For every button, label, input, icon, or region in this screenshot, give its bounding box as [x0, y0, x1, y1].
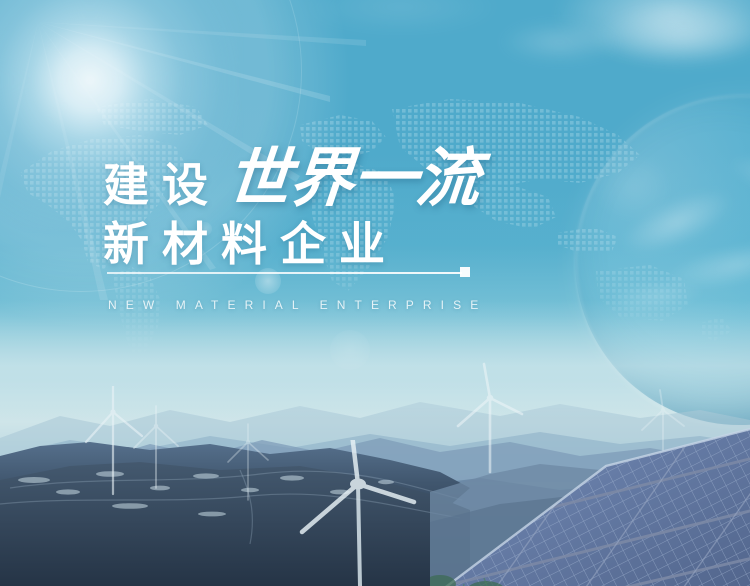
headline-prefix: 建设 [103, 159, 221, 211]
divider-line [107, 272, 462, 274]
divider-rule [107, 266, 470, 280]
promotional-banner: 建设 世界一流 新材料企业 NEW MATERIAL ENTERPRISE [0, 0, 750, 586]
headline-line-2: 新材料企业 [103, 217, 663, 271]
solar-panel-array [430, 414, 750, 586]
wind-turbine [222, 422, 274, 502]
headline-emphasis: 世界一流 [224, 147, 482, 211]
headline-block: 建设 世界一流 新材料企业 [103, 139, 663, 271]
wind-turbine [296, 440, 426, 586]
divider-end-square [460, 267, 470, 277]
headline-line-1: 建设 世界一流 [103, 139, 663, 211]
subtitle: NEW MATERIAL ENTERPRISE [108, 297, 487, 313]
wind-turbine [128, 404, 184, 490]
